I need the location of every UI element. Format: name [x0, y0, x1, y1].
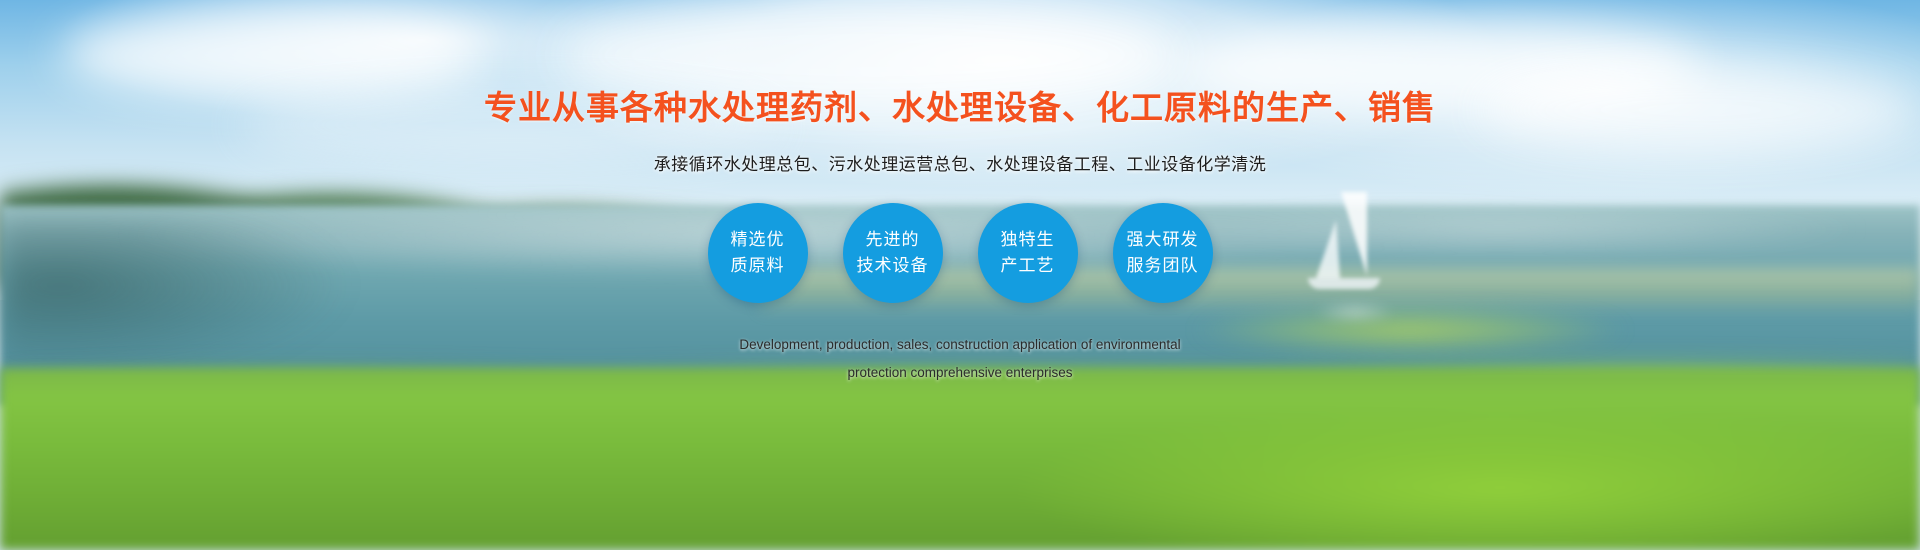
feature-circle-1[interactable]: 精选优 质原料 [708, 203, 808, 303]
feature-circle-1-line1: 精选优 [731, 227, 785, 253]
feature-circle-4-line1: 强大研发 [1127, 227, 1199, 253]
feature-circle-2-line1: 先进的 [866, 227, 920, 253]
feature-circle-3-line1: 独特生 [1001, 227, 1055, 253]
banner-headline: 专业从事各种水处理药剂、水处理设备、化工原料的生产、销售 [484, 81, 1436, 129]
english-tagline: Development, production, sales, construc… [700, 331, 1220, 387]
feature-circle-list: 精选优 质原料 先进的 技术设备 独特生 产工艺 强大研发 服务团队 [708, 203, 1213, 303]
feature-circle-2[interactable]: 先进的 技术设备 [843, 203, 943, 303]
feature-circle-1-line2: 质原料 [731, 253, 785, 279]
feature-circle-3-line2: 产工艺 [1001, 253, 1055, 279]
english-tagline-line1: Development, production, sales, construc… [700, 331, 1220, 359]
feature-circle-2-line2: 技术设备 [857, 253, 929, 279]
feature-circle-3[interactable]: 独特生 产工艺 [978, 203, 1078, 303]
feature-circle-4[interactable]: 强大研发 服务团队 [1113, 203, 1213, 303]
english-tagline-line2: protection comprehensive enterprises [700, 359, 1220, 387]
feature-circle-4-line2: 服务团队 [1127, 253, 1199, 279]
hero-banner: 专业从事各种水处理药剂、水处理设备、化工原料的生产、销售 承接循环水处理总包、污… [0, 0, 1920, 550]
banner-subheadline: 承接循环水处理总包、污水处理运营总包、水处理设备工程、工业设备化学清洗 [654, 150, 1267, 175]
banner-content: 专业从事各种水处理药剂、水处理设备、化工原料的生产、销售 承接循环水处理总包、污… [0, 0, 1920, 550]
